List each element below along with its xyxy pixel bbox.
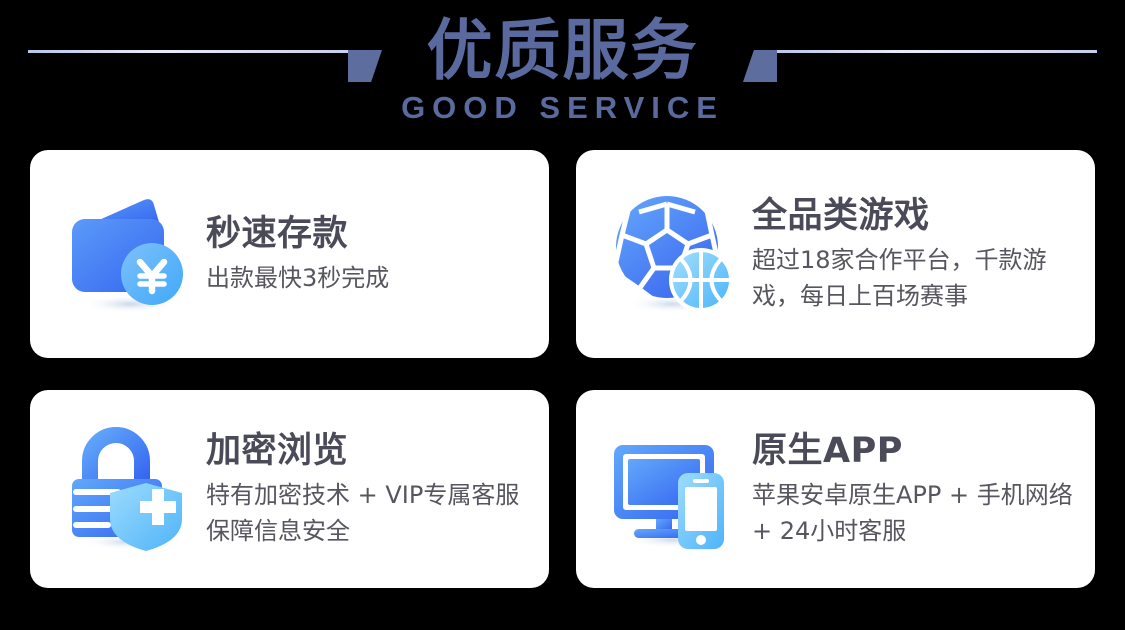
feature-card-deposit[interactable]: 秒速存款 出款最快3秒完成 (30, 150, 549, 358)
page-title-block: 优质服务 GOOD SERVICE (0, 0, 1125, 125)
lock-shield-icon (60, 421, 196, 557)
wallet-yen-icon (60, 186, 196, 322)
page-header: 优质服务 GOOD SERVICE (0, 0, 1125, 148)
page-subtitle: GOOD SERVICE (0, 88, 1125, 125)
card-description: 特有加密技术 + VIP专属客服保障信息安全 (206, 477, 537, 549)
card-title: 秒速存款 (206, 212, 389, 256)
feature-card-native-app[interactable]: 原生APP 苹果安卓原生APP + 手机网络 + 24小时客服 (576, 390, 1095, 588)
soccer-basketball-icon (606, 186, 742, 322)
card-description: 出款最快3秒完成 (206, 260, 389, 296)
monitor-phone-icon (606, 421, 742, 557)
card-description: 超过18家合作平台，千款游戏，每日上百场赛事 (752, 242, 1083, 314)
card-title: 全品类游戏 (752, 194, 1083, 238)
feature-card-grid: 秒速存款 出款最快3秒完成 (30, 150, 1095, 588)
card-text-block: 原生APP 苹果安卓原生APP + 手机网络 + 24小时客服 (752, 429, 1095, 549)
card-text-block: 秒速存款 出款最快3秒完成 (206, 212, 401, 296)
card-title: 原生APP (752, 429, 1083, 473)
feature-card-games[interactable]: 全品类游戏 超过18家合作平台，千款游戏，每日上百场赛事 (576, 150, 1095, 358)
card-title: 加密浏览 (206, 429, 537, 473)
page-title: 优质服务 (0, 0, 1125, 88)
card-description: 苹果安卓原生APP + 手机网络 + 24小时客服 (752, 477, 1083, 549)
card-text-block: 加密浏览 特有加密技术 + VIP专属客服保障信息安全 (206, 429, 549, 549)
feature-card-encryption[interactable]: 加密浏览 特有加密技术 + VIP专属客服保障信息安全 (30, 390, 549, 588)
card-text-block: 全品类游戏 超过18家合作平台，千款游戏，每日上百场赛事 (752, 194, 1095, 314)
